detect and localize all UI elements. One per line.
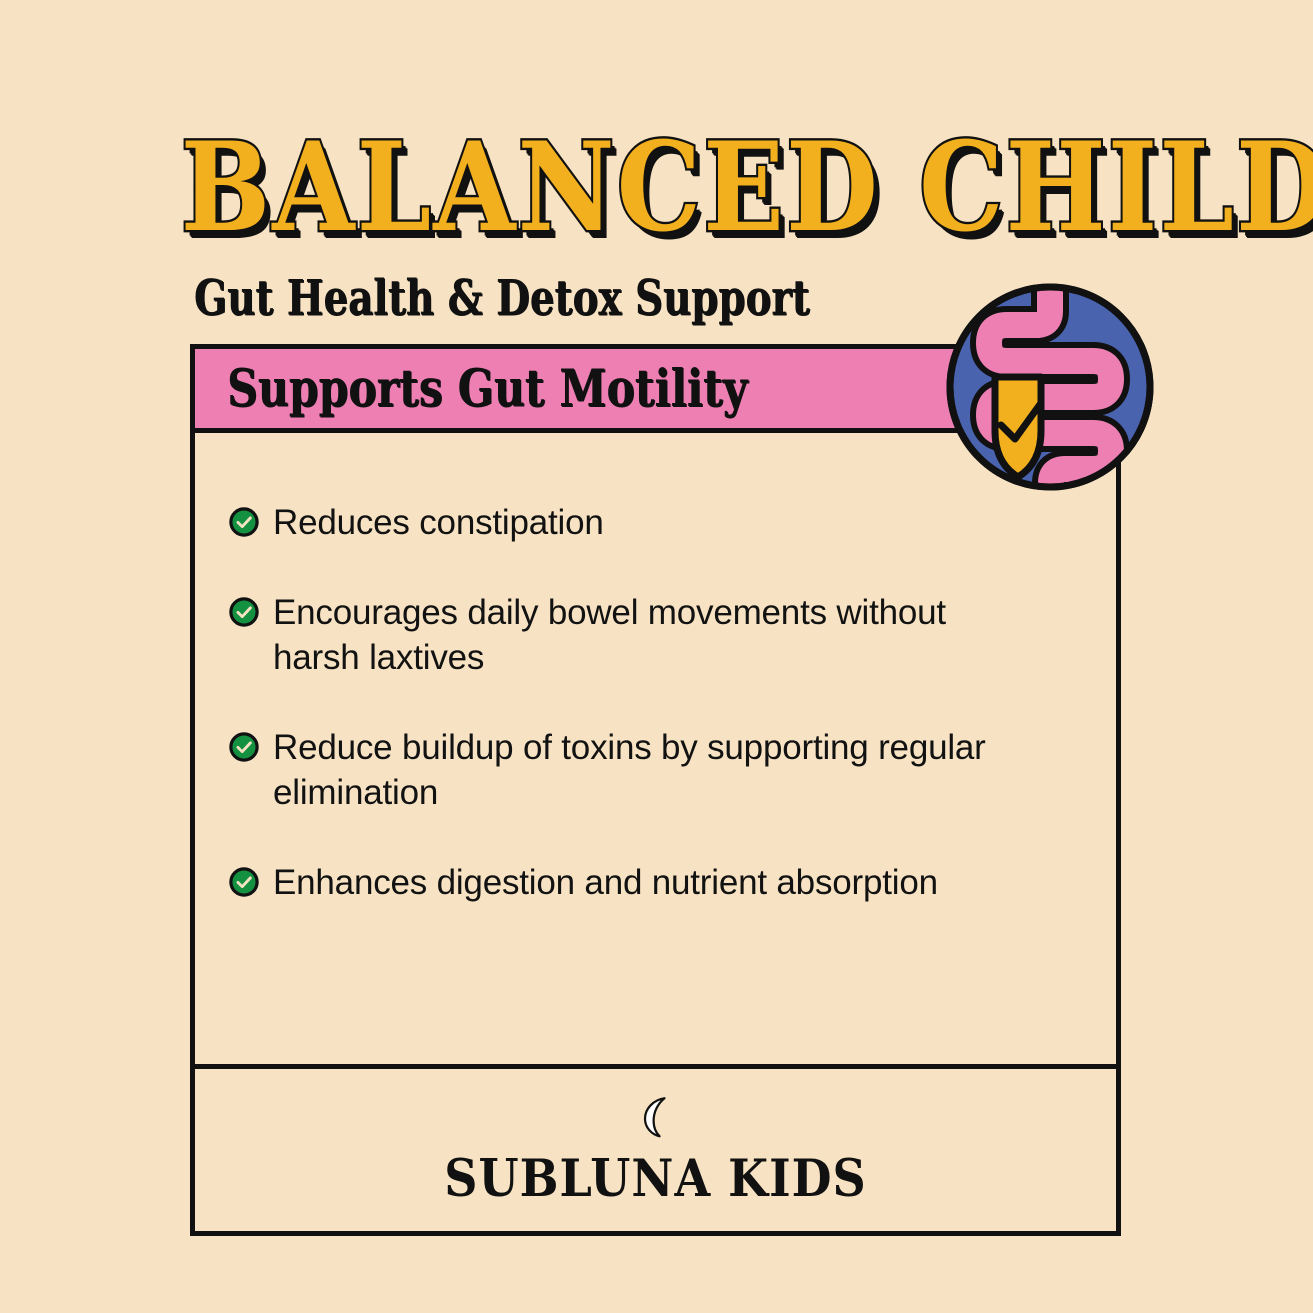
poster-root: BALANCED CHILD Gut Health & Detox Suppor… [0, 0, 1313, 1313]
list-item: Reduces constipation [229, 501, 1082, 545]
benefit-text: Reduce buildup of toxins by supporting r… [273, 726, 1033, 815]
card-header-title: Supports Gut Motility [227, 359, 747, 419]
list-item: Reduce buildup of toxins by supporting r… [229, 726, 1082, 815]
check-circle-icon [229, 507, 259, 537]
benefit-text: Enhances digestion and nutrient absorpti… [273, 861, 938, 905]
gut-shield-check-icon [945, 281, 1155, 493]
card-footer: SUBLUNA KIDS [195, 1064, 1116, 1231]
check-circle-icon [229, 732, 259, 762]
benefit-text: Encourages daily bowel movements without… [273, 591, 1033, 680]
benefit-text: Reduces constipation [273, 501, 604, 545]
list-item: Enhances digestion and nutrient absorpti… [229, 861, 1082, 905]
check-circle-icon [229, 597, 259, 627]
list-item: Encourages daily bowel movements without… [229, 591, 1082, 680]
benefits-list: Reduces constipation Encourages daily bo… [229, 501, 1082, 952]
crescent-moon-icon [636, 1095, 676, 1139]
page-title: BALANCED CHILD [181, 126, 1140, 249]
check-circle-icon [229, 867, 259, 897]
brand-name: SUBLUNA KIDS [444, 1148, 867, 1208]
